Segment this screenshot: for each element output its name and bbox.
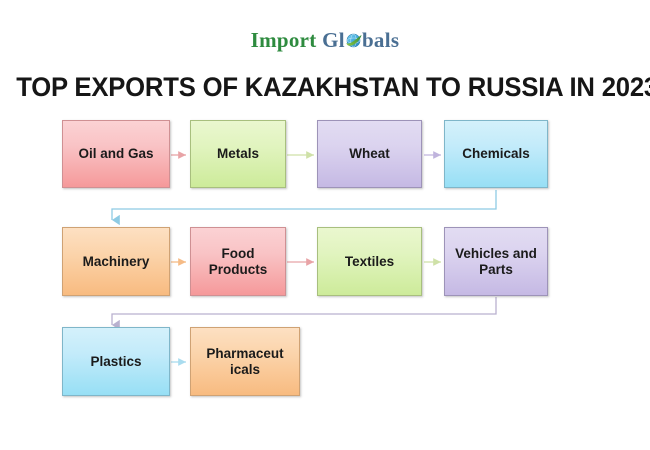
flow-box-oil-and-gas[interactable]: Oil and Gas [62,120,170,188]
flow-box-chemicals[interactable]: Chemicals [444,120,548,188]
flow-box-label: Pharmaceuticals [196,346,294,378]
flow-box-textiles[interactable]: Textiles [317,227,422,296]
flow-box-label: Oil and Gas [68,146,164,162]
flow-box-label: Machinery [68,254,164,270]
flow-box-vehicles-and-parts[interactable]: Vehicles andParts [444,227,548,296]
brand-logo: Import Gl bals [0,28,650,53]
logo-text-gl: Gl [322,28,345,52]
flow-box-label: Plastics [68,354,164,370]
flow-box-machinery[interactable]: Machinery [62,227,170,296]
logo-text-import: Import [251,28,317,52]
flow-box-label: Textiles [323,254,416,270]
flow-box-label: Vehicles andParts [450,246,542,278]
infographic-canvas: Import Gl bals TOP EXP [0,0,650,450]
logo-text-bals: bals [362,28,399,52]
connector-vehicles-to-plastics [112,297,496,325]
flow-box-label: Metals [196,146,280,162]
flow-box-metals[interactable]: Metals [190,120,286,188]
flow-box-label: FoodProducts [196,246,280,278]
flow-box-label: Chemicals [450,146,542,162]
flow-box-label: Wheat [323,146,416,162]
flow-box-plastics[interactable]: Plastics [62,327,170,396]
connector-chemicals-to-machinery [112,190,496,220]
flow-box-wheat[interactable]: Wheat [317,120,422,188]
page-title: TOP EXPORTS OF KAZAKHSTAN TO RUSSIA IN 2… [16,72,634,103]
flow-box-food-products[interactable]: FoodProducts [190,227,286,296]
globe-icon [345,32,362,49]
flow-box-pharmaceuticals[interactable]: Pharmaceuticals [190,327,300,396]
